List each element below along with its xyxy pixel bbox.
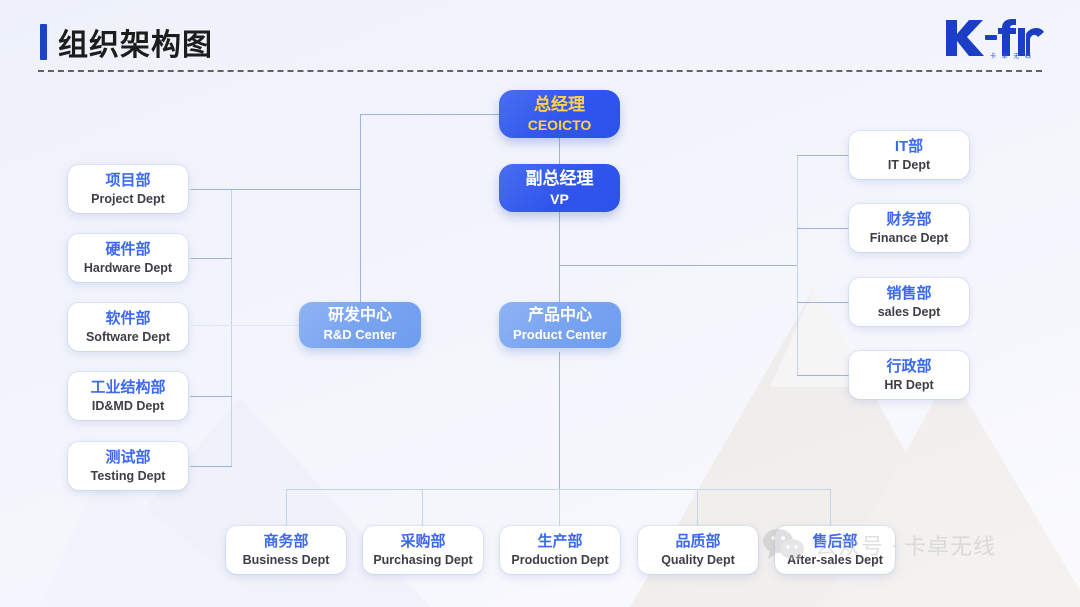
connector-bottom-drop-aftersales <box>830 489 831 526</box>
title-accent-bar <box>40 24 47 60</box>
node-it-dept[interactable]: IT部 IT Dept <box>849 131 969 179</box>
connector-left-stub-hardware <box>190 258 232 259</box>
node-testing-dept[interactable]: 测试部 Testing Dept <box>68 442 188 490</box>
connector-right-stub-sales <box>797 302 850 303</box>
connector-right-stub-it <box>797 155 850 156</box>
node-sales-dept[interactable]: 销售部 sales Dept <box>849 278 969 326</box>
node-software-dept[interactable]: 软件部 Software Dept <box>68 303 188 351</box>
node-product-center-title-en: Product Center <box>513 328 607 343</box>
node-finance-dept-title-en: Finance Dept <box>870 231 949 245</box>
node-purchasing-dept-title-cn: 采购部 <box>400 533 445 550</box>
node-idmd-dept-title-cn: 工业结构部 <box>90 379 165 396</box>
node-production-dept[interactable]: 生产部 Production Dept <box>500 526 620 574</box>
brand-logo: 卡 卓 无 线 <box>942 14 1046 60</box>
svg-text:卡 卓 无 线: 卡 卓 无 线 <box>990 52 1033 60</box>
node-hardware-dept[interactable]: 硬件部 Hardware Dept <box>68 234 188 282</box>
node-testing-dept-title-en: Testing Dept <box>91 469 166 483</box>
node-ceo-title-en: CEOICTO <box>528 117 592 133</box>
header-divider <box>38 70 1042 72</box>
node-finance-dept[interactable]: 财务部 Finance Dept <box>849 204 969 252</box>
node-it-dept-title-en: IT Dept <box>888 158 930 172</box>
node-quality-dept-title-cn: 品质部 <box>675 533 720 550</box>
node-product-center-title-cn: 产品中心 <box>528 307 592 325</box>
slide-canvas: 组织架构图 卡 卓 无 线 <box>0 0 1080 607</box>
node-software-dept-title-en: Software Dept <box>86 330 170 344</box>
connector-left-stub-idmd <box>190 396 232 397</box>
node-hr-dept-title-en: HR Dept <box>884 378 933 392</box>
node-software-dept-title-cn: 软件部 <box>105 310 150 327</box>
connector-ceo-to-rd-horizontal <box>360 114 499 115</box>
node-project-dept-title-cn: 项目部 <box>105 172 150 189</box>
node-testing-dept-title-cn: 测试部 <box>105 449 150 466</box>
connector-product-drop <box>559 352 560 490</box>
node-it-dept-title-cn: IT部 <box>895 138 923 155</box>
node-rd-center[interactable]: 研发中心 R&D Center <box>299 302 421 348</box>
node-production-dept-title-cn: 生产部 <box>537 533 582 550</box>
node-aftersales-dept-title-en: After-sales Dept <box>787 553 883 567</box>
node-purchasing-dept[interactable]: 采购部 Purchasing Dept <box>363 526 483 574</box>
node-ceo[interactable]: 总经理 CEOICTO <box>499 90 620 138</box>
node-business-dept-title-en: Business Dept <box>243 553 330 567</box>
node-project-dept-title-en: Project Dept <box>91 192 165 206</box>
connector-left-stub-project <box>190 189 360 190</box>
node-vp[interactable]: 副总经理 VP <box>499 164 620 212</box>
watermark-account: 卡卓无线 <box>904 529 996 561</box>
node-rd-center-title-en: R&D Center <box>324 328 397 343</box>
node-business-dept-title-cn: 商务部 <box>263 533 308 550</box>
node-vp-title-cn: 副总经理 <box>526 169 594 189</box>
connector-bottom-drop-business <box>286 489 287 526</box>
connector-left-trunk <box>231 189 232 467</box>
node-hardware-dept-title-en: Hardware Dept <box>84 261 172 275</box>
node-hr-dept[interactable]: 行政部 HR Dept <box>849 351 969 399</box>
node-sales-dept-title-cn: 销售部 <box>886 285 931 302</box>
connector-left-stub-software <box>190 325 300 326</box>
connector-left-stub-testing <box>190 466 232 467</box>
connector-vp-to-right-trunk <box>559 265 798 266</box>
node-business-dept[interactable]: 商务部 Business Dept <box>226 526 346 574</box>
connector-bottom-drop-purchasing <box>422 489 423 526</box>
node-finance-dept-title-cn: 财务部 <box>886 211 931 228</box>
node-idmd-dept-title-en: ID&MD Dept <box>92 399 164 413</box>
connector-vp-to-product-spine <box>559 212 560 310</box>
connector-right-stub-finance <box>797 228 850 229</box>
connector-rd-branch-vertical <box>360 114 361 310</box>
node-rd-center-title-cn: 研发中心 <box>328 307 392 325</box>
node-sales-dept-title-en: sales Dept <box>878 305 941 319</box>
node-vp-title-en: VP <box>550 191 569 207</box>
connector-right-trunk <box>797 155 798 376</box>
node-aftersales-dept[interactable]: 售后部 After-sales Dept <box>775 526 895 574</box>
node-purchasing-dept-title-en: Purchasing Dept <box>373 553 472 567</box>
node-quality-dept-title-en: Quality Dept <box>661 553 735 567</box>
node-project-dept[interactable]: 项目部 Project Dept <box>68 165 188 213</box>
node-quality-dept[interactable]: 品质部 Quality Dept <box>638 526 758 574</box>
page-title: 组织架构图 <box>58 20 213 64</box>
node-hardware-dept-title-cn: 硬件部 <box>105 241 150 258</box>
node-production-dept-title-en: Production Dept <box>511 553 608 567</box>
node-hr-dept-title-cn: 行政部 <box>886 358 931 375</box>
connector-bottom-drop-production <box>559 489 560 526</box>
node-aftersales-dept-title-cn: 售后部 <box>812 533 857 550</box>
node-product-center[interactable]: 产品中心 Product Center <box>499 302 621 348</box>
node-idmd-dept[interactable]: 工业结构部 ID&MD Dept <box>68 372 188 420</box>
node-ceo-title-cn: 总经理 <box>534 95 585 115</box>
connector-bottom-drop-quality <box>697 489 698 526</box>
connector-right-stub-hr <box>797 375 850 376</box>
slide-header: 组织架构图 卡 卓 无 线 <box>0 0 1080 75</box>
connector-ceo-spine <box>559 138 560 166</box>
